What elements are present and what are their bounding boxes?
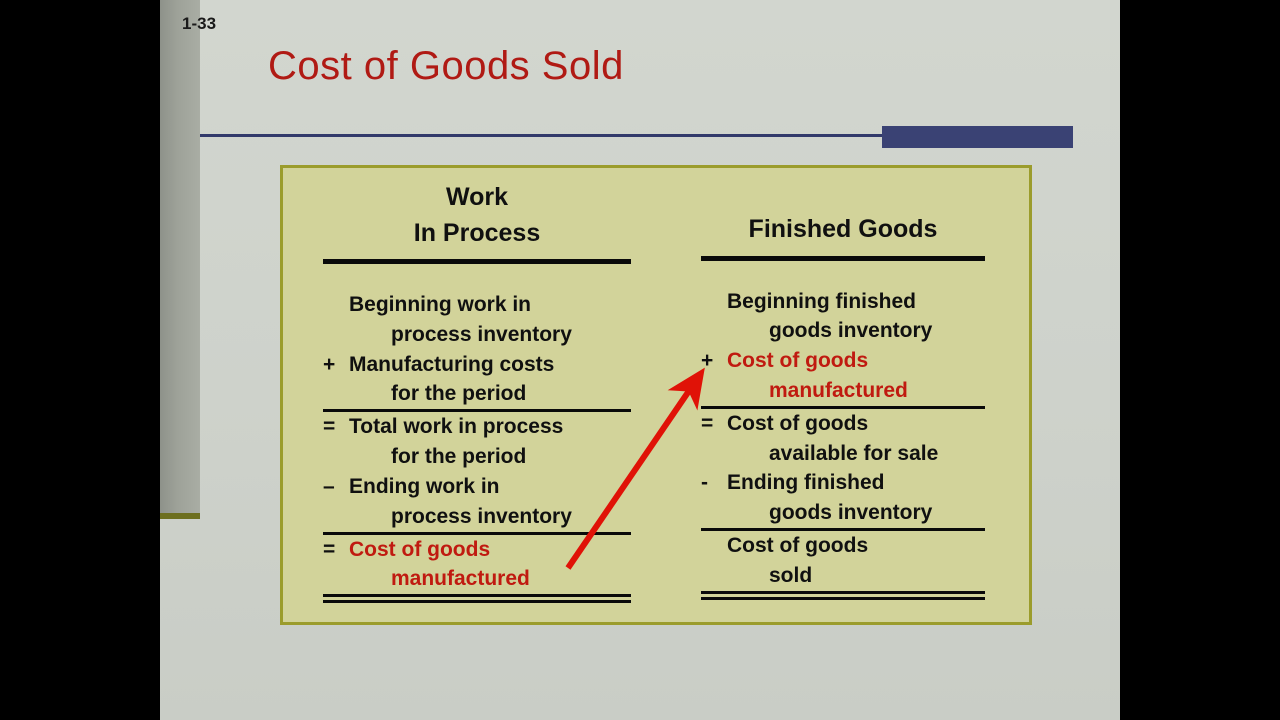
line-item-text-line1: Beginning finished [727, 290, 916, 313]
line-item-text-line2: available for sale [727, 439, 985, 469]
title-accent-block [882, 126, 1073, 148]
line-item-beginning-wip: Beginning work in process inventory [323, 290, 631, 350]
operator-symbol: + [701, 346, 721, 376]
line-item-text-line1: Ending finished [727, 471, 885, 494]
total-double-rule [323, 594, 631, 597]
column-heading-rule [323, 259, 631, 264]
diagram-columns: Work In Process Beginning work in proces… [283, 168, 1029, 622]
line-item-text-line2: for the period [349, 379, 631, 409]
total-double-rule [701, 591, 985, 594]
line-item-text-line2: process inventory [349, 320, 631, 350]
line-item-text-line2: manufactured [727, 376, 985, 406]
slide-canvas: 1-33 Cost of Goods Sold Work In Process … [160, 0, 1120, 720]
work-in-process-items: Beginning work in process inventory + Ma… [323, 290, 631, 597]
line-item-text-line2: for the period [349, 442, 631, 472]
line-item-text-line1: Cost of goods [727, 534, 868, 557]
column-heading-finished-goods: Finished Goods [701, 212, 985, 248]
slide-stage: 1-33 Cost of Goods Sold Work In Process … [0, 0, 1280, 720]
line-item-cost-of-goods-sold: Cost of goods sold [701, 531, 985, 591]
line-item-ending-finished-goods: - Ending finished goods inventory [701, 468, 985, 528]
line-item-text-line2: process inventory [349, 502, 631, 532]
line-item-cost-of-goods-manufactured-wip: = Cost of goods manufactured [323, 535, 631, 595]
line-item-text-line1: Total work in process [349, 415, 563, 438]
operator-symbol: = [701, 409, 721, 439]
finished-goods-items: Beginning finished goods inventory + Cos… [701, 287, 985, 594]
line-item-text-line1: Cost of goods [349, 538, 490, 561]
line-item-total-work-in-process: = Total work in process for the period [323, 412, 631, 472]
line-item-text-line1: Manufacturing costs [349, 353, 554, 376]
line-item-beginning-finished-goods: Beginning finished goods inventory [701, 287, 985, 347]
column-heading-rule [701, 256, 985, 261]
operator-symbol: = [323, 535, 343, 565]
line-item-manufacturing-costs: + Manufacturing costs for the period [323, 350, 631, 410]
line-item-text-line1: Beginning work in [349, 293, 531, 316]
line-item-text-line2: goods inventory [727, 498, 985, 528]
column-work-in-process: Work In Process Beginning work in proces… [323, 168, 631, 622]
operator-symbol: - [701, 468, 721, 498]
operator-symbol: – [323, 472, 343, 502]
operator-symbol: = [323, 412, 343, 442]
line-item-text-line2: sold [727, 561, 985, 591]
column-finished-goods: Finished Goods Beginning finished goods … [701, 168, 985, 622]
column-heading-work-in-process: Work In Process [323, 180, 631, 251]
line-item-text-line1: Ending work in [349, 475, 500, 498]
line-item-cost-of-goods-available-for-sale: = Cost of goods available for sale [701, 409, 985, 469]
line-item-text-line2: goods inventory [727, 316, 985, 346]
page-title: Cost of Goods Sold [268, 44, 624, 89]
line-item-cost-of-goods-manufactured-fg: + Cost of goods manufactured [701, 346, 985, 406]
left-decorative-strip [160, 0, 200, 513]
line-item-ending-wip: – Ending work in process inventory [323, 472, 631, 532]
line-item-text-line1: Cost of goods [727, 412, 868, 435]
slide-number: 1-33 [182, 14, 216, 34]
cogs-diagram-panel: Work In Process Beginning work in proces… [280, 165, 1032, 625]
left-strip-footer-accent [160, 513, 200, 519]
operator-symbol: + [323, 350, 343, 380]
line-item-text-line1: Cost of goods [727, 349, 868, 372]
line-item-text-line2: manufactured [349, 564, 631, 594]
